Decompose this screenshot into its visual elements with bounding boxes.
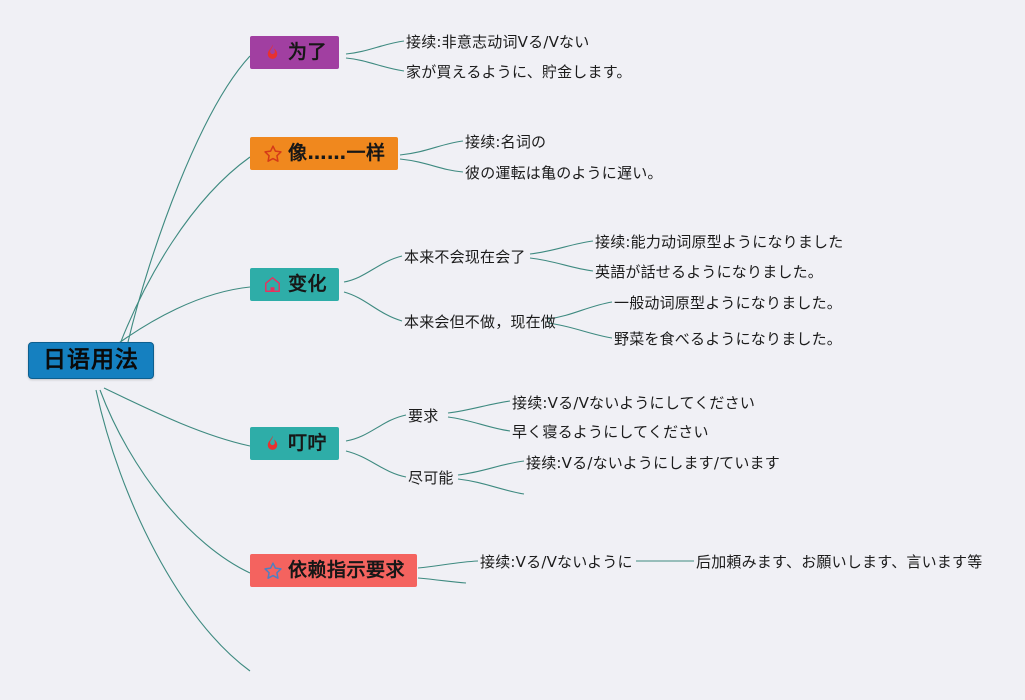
leaf-label: 后加頼みます、お願いします、言います等	[696, 551, 982, 572]
link-b3-s1-c2	[530, 258, 593, 271]
branch-node-yilaizhishi[interactable]: 依赖指示要求	[250, 554, 417, 587]
link-b3-s2-c2	[548, 323, 612, 338]
leaf-bianhua-2-2[interactable]: 野菜を食べるようになりました。	[614, 328, 842, 349]
link-b4-s1-c2	[448, 417, 510, 431]
link-root-branch-2	[120, 157, 250, 344]
link-b1-c2	[346, 58, 404, 71]
branch-node-label: 为了	[288, 43, 327, 62]
star-icon	[262, 560, 283, 581]
subnode-label: 本来会但不做，现在做	[404, 311, 556, 332]
link-b1-c1	[346, 41, 404, 54]
leaf-label: 接续:非意志动词Vる/Vない	[406, 31, 589, 52]
leaf-label: 彼の運転は亀のように遅い。	[465, 162, 663, 183]
leaf-dingning-1-2[interactable]: 早く寝るようにしてください	[512, 421, 709, 442]
leaf-bianhua-1-2[interactable]: 英語が話せるようになりました。	[595, 261, 823, 282]
branch-node-label: 变化	[288, 275, 327, 294]
root-node[interactable]: 日语用法	[28, 342, 154, 379]
leaf-bianhua-2-1[interactable]: 一般动词原型ようになりました。	[614, 292, 842, 313]
branch-node-xiangyiyang[interactable]: 像……一样	[250, 137, 398, 170]
link-b3-s2-c1	[548, 302, 612, 319]
branch-node-dingning[interactable]: 叮咛	[250, 427, 339, 460]
subnode-label: 尽可能	[408, 467, 454, 488]
branch-node-label: 依赖指示要求	[288, 561, 405, 580]
flame-icon	[262, 433, 283, 454]
link-root-branch-4	[104, 388, 250, 446]
leaf-dingning-1-1[interactable]: 接续:Vる/Vないようにしてください	[512, 392, 755, 413]
leaf-label: 接续:Vる/Vないようにしてください	[512, 392, 755, 413]
link-b2-c2	[400, 159, 463, 172]
subnode-label: 要求	[408, 405, 438, 426]
subnode-label: 本来不会现在会了	[404, 246, 526, 267]
subnode-dingning-2[interactable]: 尽可能	[408, 467, 454, 488]
link-b2-c1	[400, 141, 463, 155]
link-b5-c1	[418, 561, 478, 568]
leaf-label: 接续:Vる/ないようにします/ています	[526, 452, 780, 473]
link-root-branch-3	[112, 287, 250, 348]
link-root-branch-1	[128, 56, 250, 342]
leaf-xiangyiyang-2[interactable]: 彼の運転は亀のように遅い。	[465, 162, 663, 183]
root-node-label: 日语用法	[43, 349, 139, 372]
leaf-xiangyiyang-1[interactable]: 接续:名词の	[465, 131, 546, 152]
subnode-dingning-1[interactable]: 要求	[408, 405, 438, 426]
leaf-weile-2[interactable]: 家が買えるように、貯金します。	[406, 61, 632, 82]
leaf-label: 接续:能力动词原型ようになりました	[595, 231, 843, 252]
link-b4-s2-c1	[458, 461, 524, 475]
link-b4-s2	[346, 451, 406, 477]
leaf-weile-1[interactable]: 接续:非意志动词Vる/Vない	[406, 31, 589, 52]
branch-node-label: 叮咛	[288, 434, 327, 453]
branch-node-bianhua[interactable]: 变化	[250, 268, 339, 301]
branch-node-label: 像……一样	[288, 144, 386, 163]
leaf-dingning-2-1[interactable]: 接续:Vる/ないようにします/ています	[526, 452, 780, 473]
home-icon	[262, 274, 283, 295]
mindmap-canvas: 日语用法 为了 接续:非意志动词Vる/Vない 家が買えるように、貯金します。 像…	[0, 0, 1025, 700]
subnode-bianhua-2[interactable]: 本来会但不做，现在做	[404, 311, 556, 332]
link-b3-s2	[344, 292, 402, 321]
link-root-branch-6	[96, 390, 250, 671]
star-icon	[262, 143, 283, 164]
link-b5-c1b	[418, 578, 466, 583]
leaf-label: 接续:名词の	[465, 131, 546, 152]
link-b3-s1-c1	[530, 241, 593, 254]
link-b4-s2-c2	[458, 479, 524, 494]
link-root-branch-5	[100, 390, 250, 573]
leaf-label: 早く寝るようにしてください	[512, 421, 709, 442]
leaf-label: 接续:Vる/Vないように	[480, 551, 633, 572]
leaf-yilaizhishi-1-1[interactable]: 后加頼みます、お願いします、言います等	[696, 551, 982, 572]
leaf-label: 家が買えるように、貯金します。	[406, 61, 632, 82]
link-b3-s1	[344, 256, 402, 282]
leaf-bianhua-1-1[interactable]: 接续:能力动词原型ようになりました	[595, 231, 843, 252]
link-b4-s1	[346, 415, 406, 441]
leaf-label: 英語が話せるようになりました。	[595, 261, 823, 282]
leaf-yilaizhishi-1[interactable]: 接续:Vる/Vないように	[480, 551, 633, 572]
leaf-label: 野菜を食べるようになりました。	[614, 328, 842, 349]
leaf-label: 一般动词原型ようになりました。	[614, 292, 842, 313]
branch-node-weile[interactable]: 为了	[250, 36, 339, 69]
flame-icon	[262, 42, 283, 63]
link-b4-s1-c1	[448, 401, 510, 413]
subnode-bianhua-1[interactable]: 本来不会现在会了	[404, 246, 526, 267]
